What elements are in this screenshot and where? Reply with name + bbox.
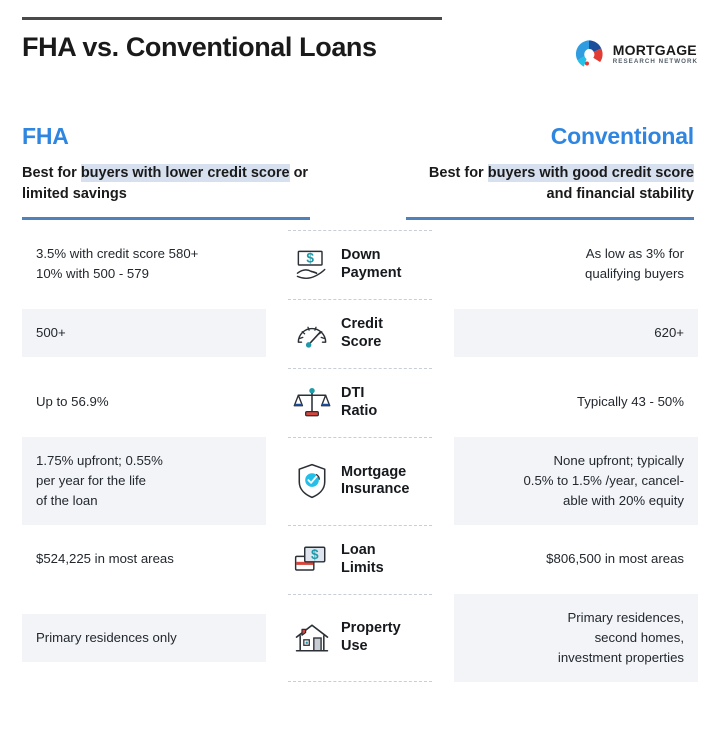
conventional-cell-value: Primary residences,second homes,investme… — [454, 594, 698, 682]
fha-cell-value: Up to 56.9% — [22, 378, 266, 426]
fha-cell: Up to 56.9% — [0, 368, 288, 437]
comparison-row: Primary residences only PropertyUse Prim… — [0, 594, 720, 682]
header: FHA vs. Conventional Loans MORTGAGE RESE… — [0, 17, 720, 113]
conventional-tagline-pre: Best for — [429, 165, 488, 181]
column-header-conventional: Conventional Best for buyers with good c… — [406, 123, 694, 220]
cell-text-line: second homes, — [595, 630, 684, 645]
conventional-cell-value: Typically 43 - 50% — [454, 378, 698, 426]
comparison-rows: 3.5% with credit score 580+10% with 500 … — [0, 230, 720, 682]
fha-tagline: Best for buyers with lower credit score … — [22, 163, 310, 204]
comparison-row: 3.5% with credit score 580+10% with 500 … — [0, 230, 720, 299]
svg-text:$: $ — [311, 547, 319, 562]
row-label-group: DTIRatio — [288, 368, 432, 437]
fha-tagline-highlight: buyers with lower credit score — [81, 164, 290, 182]
row-label: DownPayment — [341, 247, 401, 282]
comparison-row: Up to 56.9% DTIRatio Typically 43 - 50% — [0, 368, 720, 437]
cell-text-line: $806,500 in most areas — [546, 551, 684, 566]
conventional-underline — [406, 217, 694, 220]
row-label: MortgageInsurance — [341, 464, 410, 499]
cell-text-line: Primary residences only — [36, 630, 177, 645]
down-payment-icon: $ — [292, 245, 332, 285]
conventional-cell: 620+ — [432, 299, 720, 368]
conventional-tagline-highlight: buyers with good credit score — [488, 164, 694, 182]
cell-text-line: $524,225 in most areas — [36, 551, 174, 566]
conventional-cell-value: As low as 3% forqualifying buyers — [454, 230, 698, 298]
conventional-cell: As low as 3% forqualifying buyers — [432, 230, 720, 299]
cell-text-line: As low as 3% for — [586, 246, 684, 261]
cell-text-line: 10% with 500 - 579 — [36, 266, 149, 281]
fha-cell: 1.75% upfront; 0.55%per year for the lif… — [0, 437, 288, 525]
row-label-group: MortgageInsurance — [288, 437, 432, 525]
svg-text:$: $ — [306, 250, 314, 265]
comparison-row: $524,225 in most areas $ LoanLimits $806… — [0, 525, 720, 594]
title-rule — [22, 17, 442, 20]
fha-cell: Primary residences only — [0, 594, 288, 682]
row-label: LoanLimits — [341, 542, 384, 577]
conventional-cell: Primary residences,second homes,investme… — [432, 594, 720, 682]
conventional-cell-value: None upfront; typically0.5% to 1.5% /yea… — [454, 437, 698, 525]
conventional-cell: Typically 43 - 50% — [432, 368, 720, 437]
row-label-group: PropertyUse — [288, 594, 432, 682]
loan-limits-cards-icon: $ — [292, 540, 332, 580]
row-label-group: CreditScore — [288, 299, 432, 368]
column-headers: FHA Best for buyers with lower credit sc… — [0, 113, 720, 220]
logo-tagline: RESEARCH NETWORK — [613, 59, 698, 65]
infographic-page: FHA vs. Conventional Loans MORTGAGE RESE… — [0, 17, 720, 737]
fha-cell-value: 3.5% with credit score 580+10% with 500 … — [22, 230, 266, 298]
cell-text-line: 620+ — [654, 325, 684, 340]
row-label: PropertyUse — [341, 620, 401, 655]
conventional-column-title: Conventional — [406, 123, 694, 150]
fha-cell-value: Primary residences only — [22, 614, 266, 662]
conventional-tagline: Best for buyers with good credit score a… — [406, 163, 694, 204]
comparison-row: 500+ CreditScore 620+ — [0, 299, 720, 368]
cell-text-line: qualifying buyers — [585, 266, 684, 281]
row-label: CreditScore — [341, 316, 383, 351]
cell-text-line: of the loan — [36, 493, 98, 508]
conventional-cell: None upfront; typically0.5% to 1.5% /yea… — [432, 437, 720, 525]
column-header-spacer — [310, 123, 406, 220]
dti-ratio-scales-icon — [292, 383, 332, 423]
brand-logo: MORTGAGE RESEARCH NETWORK — [572, 37, 698, 71]
cell-text-line: able with 20% equity — [563, 493, 684, 508]
conventional-tagline-post: and financial stability — [547, 186, 694, 202]
fha-cell-value: $524,225 in most areas — [22, 535, 266, 583]
fha-column-title: FHA — [22, 123, 310, 150]
row-label: DTIRatio — [341, 385, 377, 420]
fha-cell: 3.5% with credit score 580+10% with 500 … — [0, 230, 288, 299]
mortgage-research-network-gauge-logo — [572, 37, 606, 71]
cell-text-line: investment properties — [558, 650, 684, 665]
conventional-cell-value: 620+ — [454, 309, 698, 357]
cell-text-line: 1.75% upfront; 0.55% — [36, 453, 163, 468]
mortgage-insurance-shield-icon — [292, 461, 332, 501]
fha-cell: $524,225 in most areas — [0, 525, 288, 594]
cell-text-line: Up to 56.9% — [36, 394, 109, 409]
cell-text-line: 3.5% with credit score 580+ — [36, 246, 198, 261]
cell-text-line: 0.5% to 1.5% /year, cancel- — [523, 473, 684, 488]
conventional-cell-value: $806,500 in most areas — [454, 535, 698, 583]
fha-tagline-pre: Best for — [22, 165, 81, 181]
credit-score-gauge-icon — [292, 314, 332, 354]
cell-text-line: 500+ — [36, 325, 66, 340]
column-header-fha: FHA Best for buyers with lower credit sc… — [22, 123, 310, 220]
fha-underline — [22, 217, 310, 220]
cell-text-line: per year for the life — [36, 473, 146, 488]
conventional-cell: $806,500 in most areas — [432, 525, 720, 594]
fha-cell: 500+ — [0, 299, 288, 368]
row-label-group: $ DownPayment — [288, 230, 432, 299]
comparison-row: 1.75% upfront; 0.55%per year for the lif… — [0, 437, 720, 525]
cell-text-line: Typically 43 - 50% — [577, 394, 684, 409]
cell-text-line: Primary residences, — [567, 610, 684, 625]
row-label-group: $ LoanLimits — [288, 525, 432, 594]
logo-name: MORTGAGE — [613, 43, 698, 57]
property-use-house-icon — [292, 618, 332, 658]
cell-text-line: None upfront; typically — [554, 453, 684, 468]
fha-cell-value: 500+ — [22, 309, 266, 357]
fha-cell-value: 1.75% upfront; 0.55%per year for the lif… — [22, 437, 266, 525]
